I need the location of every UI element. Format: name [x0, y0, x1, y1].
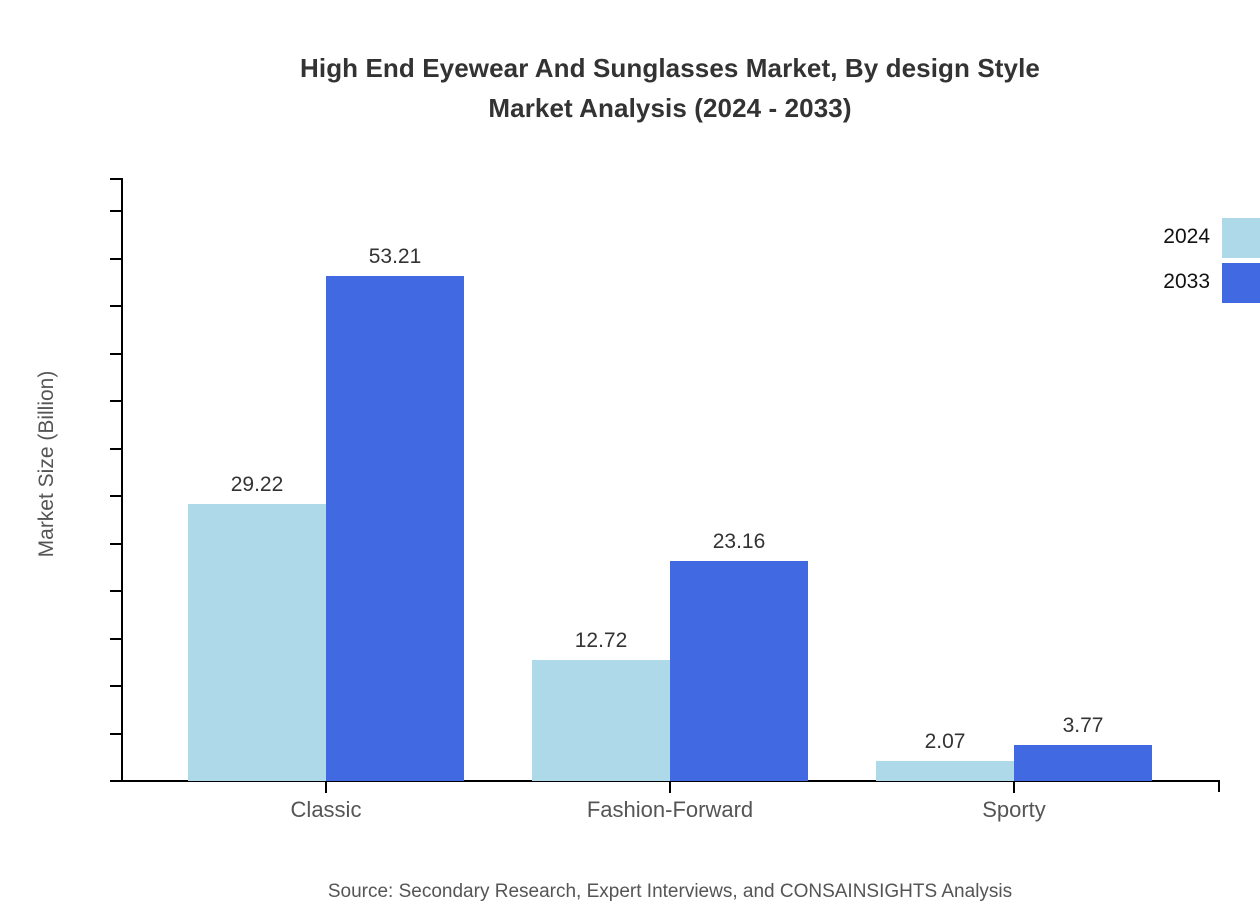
bar-classic-2033[interactable] — [326, 276, 464, 781]
bar-sporty-2024[interactable] — [876, 761, 1014, 781]
y-axis-tick-mark — [110, 210, 121, 212]
plot-area: 29.2212.722.0753.2123.163.77 — [121, 178, 1221, 781]
bar-fashion-forward-2033[interactable] — [670, 561, 808, 781]
y-axis-tick-mark — [110, 305, 121, 307]
x-axis-tick-label: Classic — [176, 794, 476, 826]
chart-title-line-1: High End Eyewear And Sunglasses Market, … — [300, 53, 1040, 83]
bar-value-label: 12.72 — [521, 628, 681, 654]
y-axis-title: Market Size (Billion) — [33, 164, 61, 764]
legend-label: 2033 — [1130, 268, 1210, 296]
bar-value-label: 23.16 — [659, 529, 819, 555]
x-axis-tick-label: Fashion-Forward — [520, 794, 820, 826]
y-axis-tick-mark — [110, 780, 121, 782]
x-axis-tick-label: Sporty — [864, 794, 1164, 826]
y-axis-tick-mark — [110, 638, 121, 640]
chart-title-line-2: Market Analysis (2024 - 2033) — [488, 93, 851, 123]
y-axis-tick-mark — [110, 543, 121, 545]
bar-value-label: 53.21 — [315, 244, 475, 270]
y-axis-tick-mark — [110, 495, 121, 497]
y-axis-tick-mark — [110, 733, 121, 735]
chart-source-note: Source: Secondary Research, Expert Inter… — [0, 878, 1260, 906]
y-axis-tick-mark — [110, 590, 121, 592]
x-axis-end-cap — [1218, 780, 1220, 792]
y-axis-tick-mark — [110, 258, 121, 260]
x-axis-tick-mark — [325, 782, 327, 793]
y-axis-tick-mark — [110, 400, 121, 402]
y-axis-tick-mark — [110, 685, 121, 687]
bar-fashion-forward-2024[interactable] — [532, 660, 670, 781]
bar-value-label: 3.77 — [1003, 713, 1163, 739]
bar-value-label: 29.22 — [177, 472, 337, 498]
bar-chart-figure: High End Eyewear And Sunglasses Market, … — [0, 0, 1260, 920]
y-axis-tick-mark — [110, 353, 121, 355]
legend-label: 2024 — [1130, 223, 1210, 251]
bar-classic-2024[interactable] — [188, 504, 326, 781]
legend-swatch — [1222, 263, 1260, 303]
x-axis-tick-mark — [1013, 782, 1015, 793]
legend-swatch — [1222, 218, 1260, 258]
y-axis-tick-mark — [110, 448, 121, 450]
bar-sporty-2033[interactable] — [1014, 745, 1152, 781]
chart-title: High End Eyewear And Sunglasses Market, … — [0, 48, 1260, 128]
bar-value-label: 2.07 — [865, 729, 1025, 755]
x-axis-tick-mark — [669, 782, 671, 793]
